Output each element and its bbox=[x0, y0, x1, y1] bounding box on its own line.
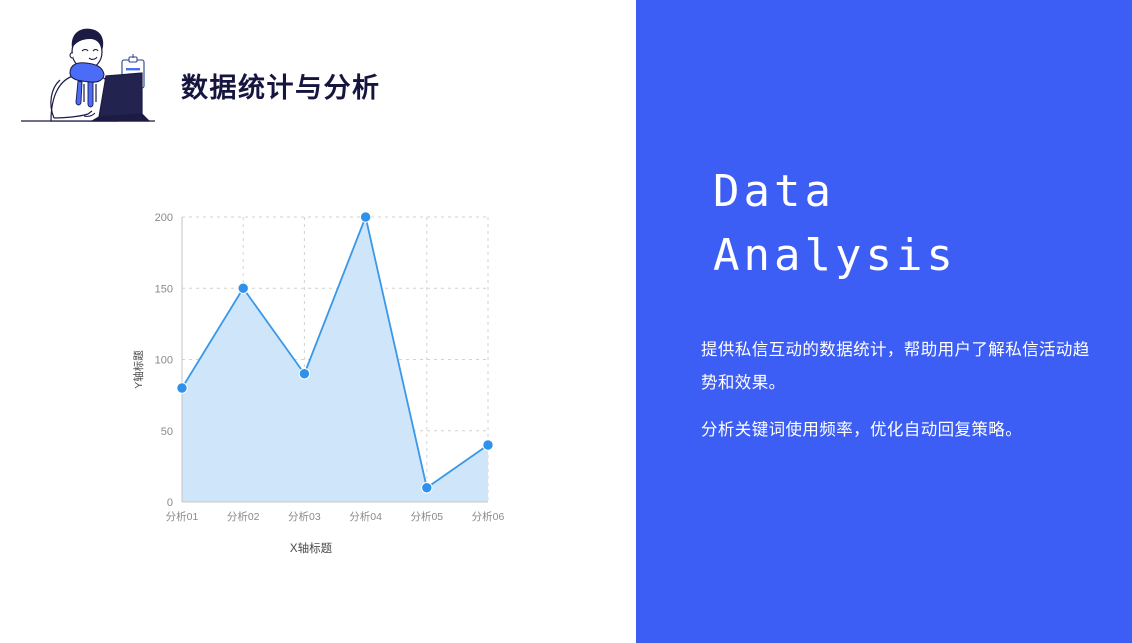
header-row: 数据统计与分析 bbox=[0, 0, 636, 150]
data-point-marker[interactable] bbox=[422, 483, 432, 493]
right-panel: Data Analysis 提供私信互动的数据统计，帮助用户了解私信活动趋势和效… bbox=[636, 0, 1132, 643]
chart-svg: 050100150200分析01分析02分析03分析04分析05分析06X轴标题… bbox=[120, 195, 520, 565]
x-tick-label: 分析06 bbox=[472, 510, 505, 523]
description-paragraph-1: 提供私信互动的数据统计，帮助用户了解私信活动趋势和效果。 bbox=[701, 334, 1101, 400]
y-tick-label: 100 bbox=[155, 355, 173, 367]
y-tick-label: 150 bbox=[155, 283, 173, 295]
line-area-chart: 050100150200分析01分析02分析03分析04分析05分析06X轴标题… bbox=[120, 195, 520, 565]
description-block: 提供私信互动的数据统计，帮助用户了解私信活动趋势和效果。 分析关键词使用频率，优… bbox=[701, 334, 1101, 447]
data-point-marker[interactable] bbox=[238, 283, 248, 293]
x-axis-title: X轴标题 bbox=[290, 541, 333, 555]
data-point-marker[interactable] bbox=[299, 369, 309, 379]
left-panel: 数据统计与分析 050100150200分析01分析02分析03分析04分析05… bbox=[0, 0, 636, 643]
data-point-marker[interactable] bbox=[483, 440, 493, 450]
y-axis-title: Y轴标题 bbox=[132, 350, 145, 389]
y-tick-label: 0 bbox=[167, 497, 173, 509]
data-point-marker[interactable] bbox=[177, 383, 187, 393]
english-heading: Data Analysis bbox=[713, 160, 1113, 288]
slide-root: 数据统计与分析 050100150200分析01分析02分析03分析04分析05… bbox=[0, 0, 1132, 643]
x-tick-label: 分析05 bbox=[410, 510, 443, 523]
x-tick-label: 分析01 bbox=[166, 510, 199, 523]
y-tick-label: 200 bbox=[155, 212, 173, 224]
page-title: 数据统计与分析 bbox=[181, 66, 381, 105]
x-tick-label: 分析02 bbox=[227, 510, 260, 523]
description-paragraph-2: 分析关键词使用频率，优化自动回复策略。 bbox=[701, 414, 1101, 447]
x-tick-label: 分析04 bbox=[349, 510, 382, 523]
data-point-marker[interactable] bbox=[360, 212, 370, 222]
y-tick-label: 50 bbox=[161, 426, 173, 438]
x-tick-label: 分析03 bbox=[288, 510, 321, 523]
person-working-on-laptop-illustration bbox=[18, 18, 158, 133]
